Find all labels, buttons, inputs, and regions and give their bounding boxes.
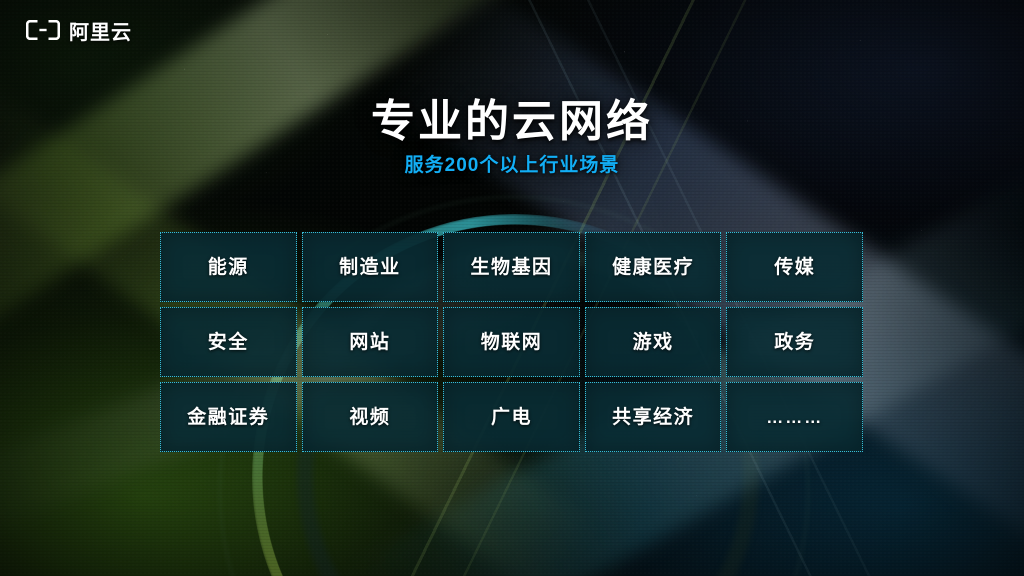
industry-card-label: 共享经济 xyxy=(612,408,694,427)
industry-card[interactable]: 能源 xyxy=(160,232,297,302)
industry-card-label: ……… xyxy=(766,409,823,426)
industry-card-label: 游戏 xyxy=(633,333,674,352)
industry-card-label: 广电 xyxy=(491,408,532,427)
alibaba-cloud-logo-icon xyxy=(26,20,60,45)
industry-card[interactable]: 金融证券 xyxy=(160,382,297,452)
industry-card[interactable]: 生物基因 xyxy=(443,232,580,302)
brand-logo: 阿里云 xyxy=(26,20,132,45)
industry-card-label: 金融证券 xyxy=(187,408,269,427)
industry-card-label: 安全 xyxy=(208,333,249,352)
page-title: 专业的云网络 xyxy=(0,98,1024,146)
industry-card-label: 传媒 xyxy=(774,258,815,277)
industry-grid: 能源制造业生物基因健康医疗传媒安全网站物联网游戏政务金融证券视频广电共享经济……… xyxy=(160,232,863,452)
page-subtitle: 服务200个以上行业场景 xyxy=(0,155,1024,178)
slide-canvas: 阿里云 专业的云网络 服务200个以上行业场景 能源制造业生物基因健康医疗传媒安… xyxy=(0,0,1024,576)
industry-card-label: 健康医疗 xyxy=(612,258,694,277)
industry-card[interactable]: 健康医疗 xyxy=(585,232,722,302)
industry-card-label: 视频 xyxy=(349,408,390,427)
industry-card-label: 制造业 xyxy=(339,258,401,277)
industry-card[interactable]: 视频 xyxy=(302,382,439,452)
industry-card[interactable]: 制造业 xyxy=(302,232,439,302)
industry-card[interactable]: ……… xyxy=(726,382,863,452)
industry-card[interactable]: 安全 xyxy=(160,307,297,377)
industry-card-label: 物联网 xyxy=(481,333,543,352)
brand-name: 阿里云 xyxy=(69,23,132,43)
industry-card[interactable]: 游戏 xyxy=(585,307,722,377)
industry-card[interactable]: 共享经济 xyxy=(585,382,722,452)
heading-block: 专业的云网络 服务200个以上行业场景 xyxy=(0,98,1024,177)
industry-card-label: 网站 xyxy=(349,333,390,352)
industry-card[interactable]: 网站 xyxy=(302,307,439,377)
industry-card-label: 生物基因 xyxy=(470,258,552,277)
industry-card[interactable]: 传媒 xyxy=(726,232,863,302)
industry-card[interactable]: 政务 xyxy=(726,307,863,377)
industry-card-label: 能源 xyxy=(208,258,249,277)
industry-card-label: 政务 xyxy=(774,333,815,352)
industry-card[interactable]: 物联网 xyxy=(443,307,580,377)
industry-card[interactable]: 广电 xyxy=(443,382,580,452)
